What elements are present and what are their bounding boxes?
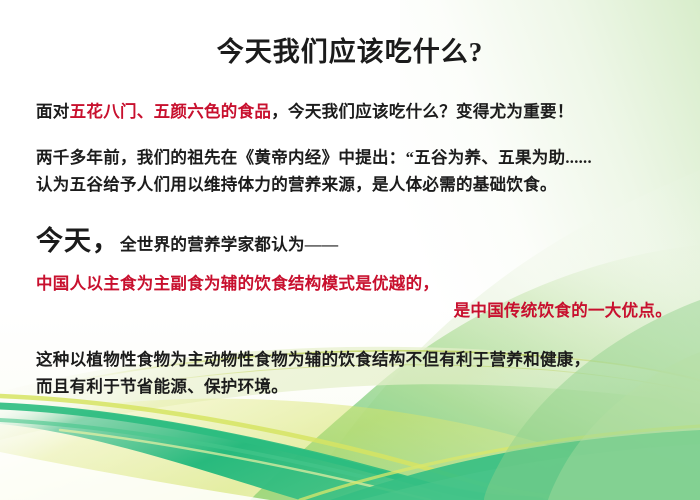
paragraph-2-line-1: 两千多年前，我们的祖先在《黄帝内经》中提出：“五谷为养、五果为助...... — [36, 144, 672, 171]
paragraph-1-lead: 面对 — [36, 102, 70, 121]
paragraph-1: 面对五花八门、五颜六色的食品，今天我们应该吃什么？变得尤为重要！ — [36, 98, 672, 125]
paragraph-4-line-2: 而且有利于节省能源、保护环境。 — [36, 373, 672, 400]
paragraph-1-tail: ，今天我们应该吃什么？变得尤为重要！ — [271, 102, 573, 121]
paragraph-2-line-2: 认为五谷给予人们用以维持体力的营养来源，是人体必需的基础饮食。 — [36, 171, 672, 198]
paragraph-2: 两千多年前，我们的祖先在《黄帝内经》中提出：“五谷为养、五果为助...... 认… — [36, 144, 672, 198]
highlight-statement: 中国人以主食为主副食为辅的饮食结构模式是优越的， 是中国传统饮食的一大优点。 — [36, 270, 672, 324]
today-statement: 今天，全世界的营养学家都认为—— — [36, 219, 672, 258]
paragraph-4: 这种以植物性食物为主动物性食物为辅的饮食结构不但有利于营养和健康， 而且有利于节… — [36, 346, 672, 400]
today-statement-rest: 全世界的营养学家都认为—— — [120, 235, 338, 254]
page-title: 今天我们应该吃什么? — [0, 30, 700, 69]
highlight-line-2: 是中国传统饮食的一大优点。 — [36, 297, 672, 324]
paragraph-4-line-1: 这种以植物性食物为主动物性食物为辅的饮食结构不但有利于营养和健康， — [36, 346, 672, 373]
body-text-block: 面对五花八门、五颜六色的食品，今天我们应该吃什么？变得尤为重要！ 两千多年前，我… — [36, 98, 672, 400]
highlight-line-1: 中国人以主食为主副食为辅的饮食结构模式是优越的， — [36, 270, 672, 297]
paragraph-1-emphasis: 五花八门、五颜六色的食品 — [70, 102, 272, 121]
today-statement-heading: 今天， — [36, 226, 120, 256]
slide-canvas: 今天我们应该吃什么? 面对五花八门、五颜六色的食品，今天我们应该吃什么？变得尤为… — [0, 0, 700, 500]
slide-content: 今天我们应该吃什么? 面对五花八门、五颜六色的食品，今天我们应该吃什么？变得尤为… — [0, 0, 700, 500]
